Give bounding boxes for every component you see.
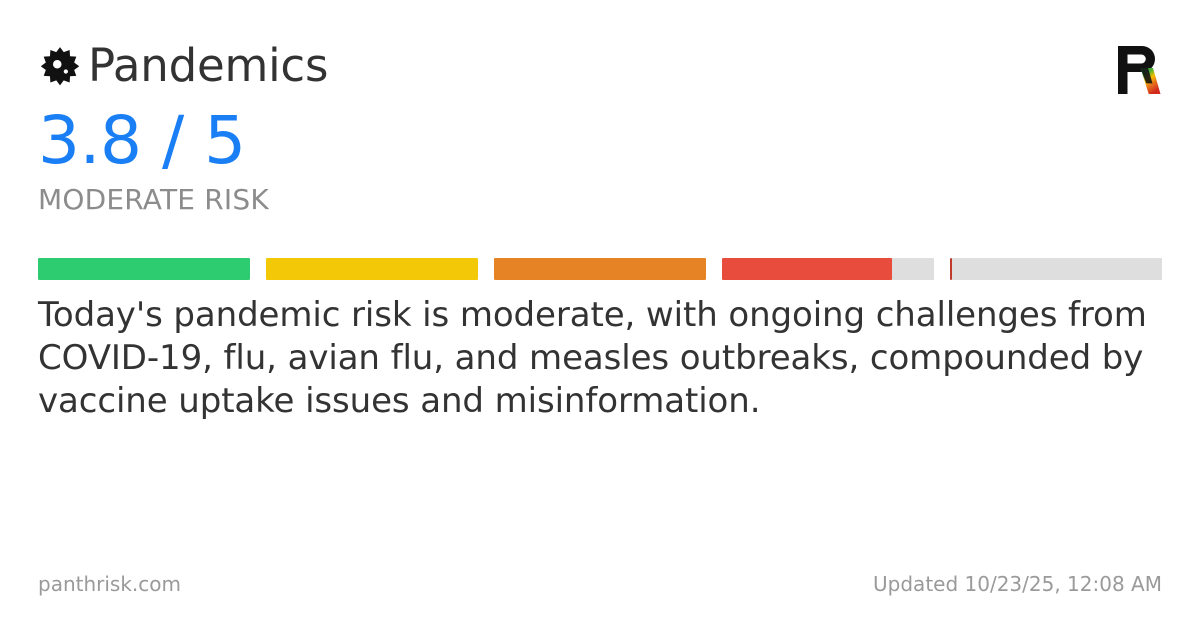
header: Pandemics [38, 42, 1162, 102]
risk-summary-text: Today's pandemic risk is moderate, with … [38, 294, 1164, 423]
meter-segment-5 [950, 258, 1162, 280]
meter-segment-4-fill [722, 258, 892, 280]
page-title: Pandemics [88, 42, 328, 89]
meter-segment-2 [266, 258, 478, 280]
site-name[interactable]: panthrisk.com [38, 572, 181, 596]
meter-segment-5-fill [950, 258, 952, 280]
risk-card: Pandemics [0, 0, 1200, 630]
meter-segment-1 [38, 258, 250, 280]
category-heading: Pandemics [38, 42, 328, 89]
meter-segment-3 [494, 258, 706, 280]
risk-level-label: MODERATE RISK [38, 186, 269, 214]
risk-meter [38, 258, 1162, 280]
meter-segment-1-fill [38, 258, 250, 280]
meter-segment-2-fill [266, 258, 478, 280]
updated-timestamp: Updated 10/23/25, 12:08 AM [873, 572, 1162, 596]
panthrisk-logo [1116, 44, 1162, 96]
score-block: 3.8 / 5 MODERATE RISK [38, 108, 269, 214]
meter-segment-4 [722, 258, 934, 280]
score-value: 3.8 / 5 [38, 108, 269, 174]
meter-segment-3-fill [494, 258, 706, 280]
gear-virus-icon [38, 45, 82, 89]
footer: panthrisk.com Updated 10/23/25, 12:08 AM [38, 572, 1162, 596]
